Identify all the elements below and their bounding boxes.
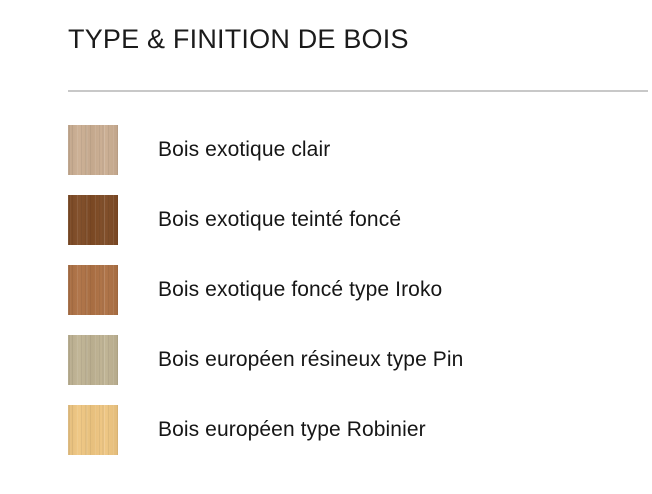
wood-swatch-bois-exotique-clair bbox=[68, 125, 118, 175]
wood-grain-texture bbox=[68, 125, 118, 175]
list-item: Bois européen résineux type Pin bbox=[0, 335, 652, 385]
wood-grain-texture bbox=[68, 405, 118, 455]
wood-swatch-bois-europeen-type-robinier bbox=[68, 405, 118, 455]
legend-label: Bois exotique foncé type Iroko bbox=[158, 265, 442, 315]
legend-label: Bois exotique teinté foncé bbox=[158, 195, 401, 245]
legend-label: Bois européen type Robinier bbox=[158, 405, 426, 455]
wood-swatch-bois-europeen-resineux-type-pin bbox=[68, 335, 118, 385]
wood-grain-texture bbox=[68, 265, 118, 315]
wood-type-finish-panel: TYPE & FINITION DE BOIS Bois exotique cl… bbox=[0, 0, 652, 494]
wood-swatch-bois-exotique-teinte-fonce bbox=[68, 195, 118, 245]
list-item: Bois européen type Robinier bbox=[0, 405, 652, 455]
list-item: Bois exotique clair bbox=[0, 125, 652, 175]
list-item: Bois exotique teinté foncé bbox=[0, 195, 652, 245]
title-divider bbox=[68, 90, 648, 92]
wood-grain-texture bbox=[68, 195, 118, 245]
list-item: Bois exotique foncé type Iroko bbox=[0, 265, 652, 315]
wood-grain-texture bbox=[68, 335, 118, 385]
wood-legend-list: Bois exotique clair Bois exotique teinté… bbox=[0, 125, 652, 455]
page-title: TYPE & FINITION DE BOIS bbox=[68, 22, 409, 56]
legend-label: Bois exotique clair bbox=[158, 125, 330, 175]
wood-swatch-bois-exotique-fonce-type-iroko bbox=[68, 265, 118, 315]
legend-label: Bois européen résineux type Pin bbox=[158, 335, 463, 385]
